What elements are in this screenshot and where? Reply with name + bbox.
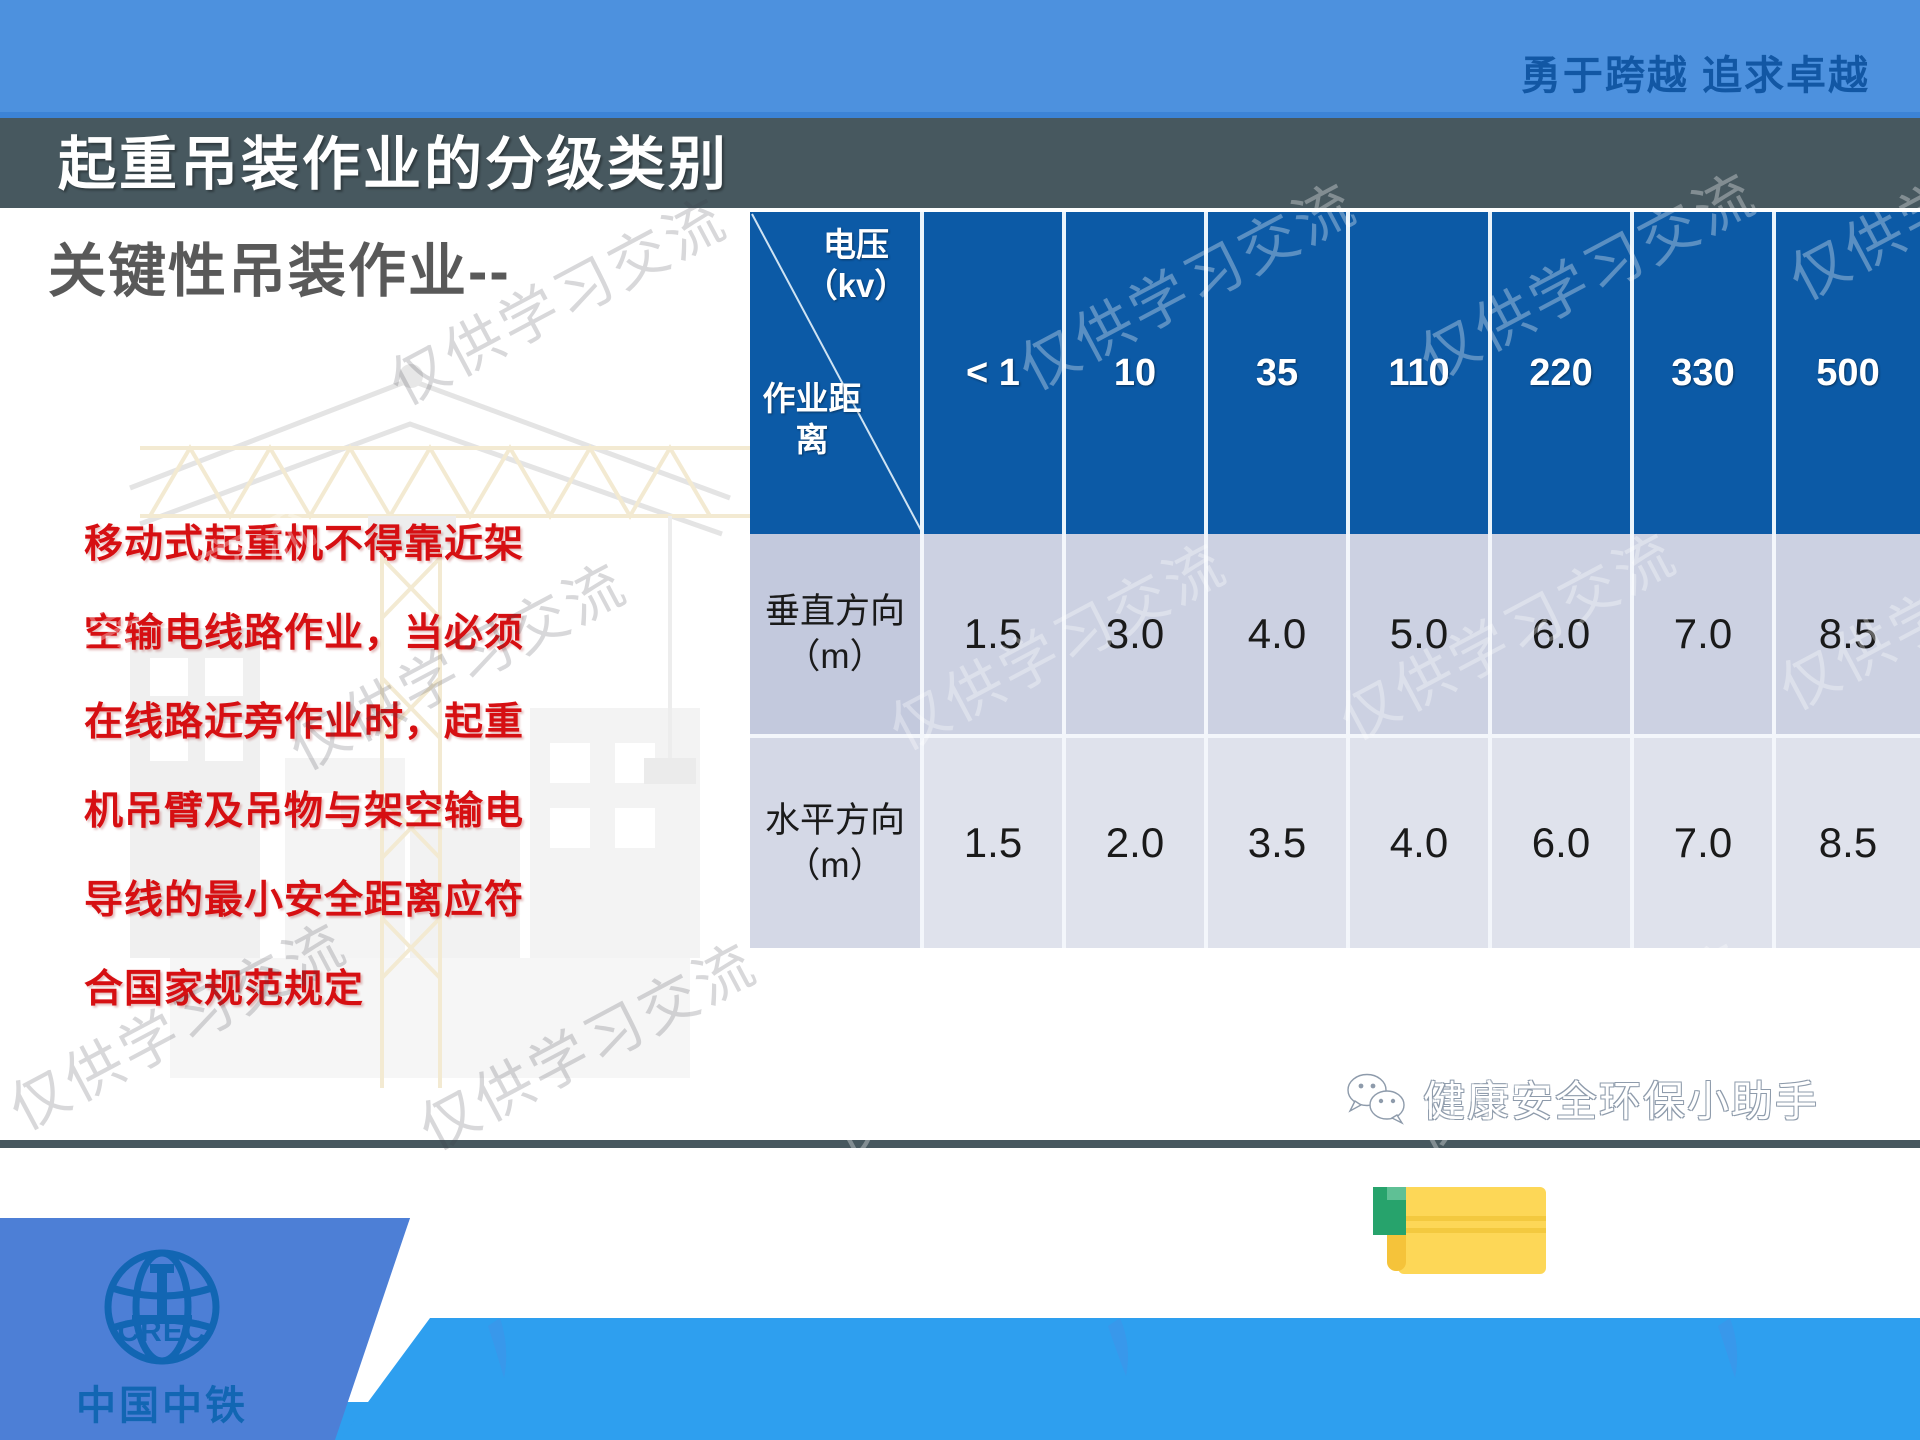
cell-horizontal-1: 2.0 xyxy=(1066,738,1208,948)
cell-horizontal-4: 6.0 xyxy=(1492,738,1634,948)
column-header-2: 35 xyxy=(1208,212,1350,534)
corner-voltage-label: 电压（kv） xyxy=(800,224,912,307)
column-header-0: < 1 xyxy=(924,212,1066,534)
cell-vertical-6: 8.5 xyxy=(1776,534,1920,738)
column-header-5: 330 xyxy=(1634,212,1776,534)
crec-logo: CREC 中国中铁 xyxy=(62,1248,262,1431)
warning-line-2: 空输电线路作业，当必须 xyxy=(84,589,644,678)
warning-line-4: 机吊臂及吊物与架空输电 xyxy=(84,767,644,856)
table-corner-header: 电压（kv） 作业距离 xyxy=(750,212,924,534)
warning-line-6: 合国家规范规定 xyxy=(84,945,644,1034)
footer-diagonal-shapes xyxy=(0,1148,1920,1440)
section-subtitle: 关键性吊装作业-- xyxy=(48,240,511,304)
cell-horizontal-6: 8.5 xyxy=(1776,738,1920,948)
warning-line-5: 导线的最小安全距离应符 xyxy=(84,856,644,945)
svg-text:CREC: CREC xyxy=(117,1315,206,1348)
column-header-4: 220 xyxy=(1492,212,1634,534)
crec-globe-rail-icon: CREC xyxy=(62,1248,262,1366)
cell-vertical-1: 3.0 xyxy=(1066,534,1208,738)
cell-vertical-0: 1.5 xyxy=(924,534,1066,738)
corporate-slogan: 勇于跨越 追求卓越 xyxy=(1521,56,1870,96)
table-row: 垂直方向（m） 1.5 3.0 4.0 5.0 6.0 7.0 8.5 xyxy=(750,534,1920,738)
corner-distance-label: 作业距离 xyxy=(760,378,864,461)
crec-logo-name: 中国中铁 xyxy=(62,1373,262,1431)
cell-vertical-4: 6.0 xyxy=(1492,534,1634,738)
slide-body: 关键性吊装作业-- 移动式起重机不得靠近架 空输电线路作业，当必须 在线路近旁作… xyxy=(0,208,1920,1146)
row-label-vertical: 垂直方向（m） xyxy=(750,534,924,738)
column-header-6: 500 xyxy=(1776,212,1920,534)
column-header-3: 110 xyxy=(1350,212,1492,534)
voltage-distance-table: 电压（kv） 作业距离 < 1 10 35 110 220 330 500 垂直… xyxy=(750,212,1920,948)
cell-vertical-5: 7.0 xyxy=(1634,534,1776,738)
page-title: 起重吊装作业的分级类别 xyxy=(58,130,729,200)
footer-divider xyxy=(0,1140,1920,1148)
cell-horizontal-5: 7.0 xyxy=(1634,738,1776,948)
decorative-book-icon xyxy=(1373,1184,1548,1276)
warning-line-1: 移动式起重机不得靠近架 xyxy=(84,500,644,589)
warning-paragraph: 移动式起重机不得靠近架 空输电线路作业，当必须 在线路近旁作业时，起重 机吊臂及… xyxy=(84,500,644,1034)
warning-line-3: 在线路近旁作业时，起重 xyxy=(84,678,644,767)
slide-footer: CREC 中国中铁 xyxy=(0,1148,1920,1440)
table-header-row: 电压（kv） 作业距离 < 1 10 35 110 220 330 500 xyxy=(750,212,1920,534)
cell-horizontal-2: 3.5 xyxy=(1208,738,1350,948)
table-row: 水平方向（m） 1.5 2.0 3.5 4.0 6.0 7.0 8.5 xyxy=(750,738,1920,948)
cell-horizontal-0: 1.5 xyxy=(924,738,1066,948)
cell-vertical-3: 5.0 xyxy=(1350,534,1492,738)
slide-root: 勇于跨越 追求卓越 起重吊装作业的分级类别 xyxy=(0,0,1920,1440)
row-label-horizontal: 水平方向（m） xyxy=(750,738,924,948)
cell-horizontal-3: 4.0 xyxy=(1350,738,1492,948)
cell-vertical-2: 4.0 xyxy=(1208,534,1350,738)
column-header-1: 10 xyxy=(1066,212,1208,534)
